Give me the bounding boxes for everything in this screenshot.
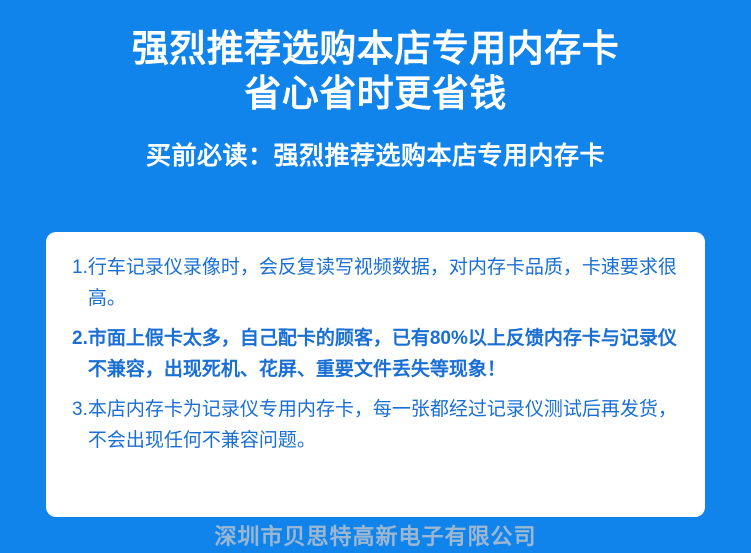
headline-line-2: 省心省时更省钱 bbox=[0, 71, 751, 116]
list-item: 1. 行车记录仪录像时，会反复读写视频数据，对内存卡品质，卡速要求很高。 bbox=[72, 252, 679, 314]
poster-headline: 强烈推荐选购本店专用内存卡 省心省时更省钱 bbox=[0, 0, 751, 116]
list-item-text: 本店内存卡为记录仪专用内存卡，每一张都经过记录仪测试后再发货，不会出现任何不兼容… bbox=[88, 394, 679, 456]
list-item: 2. 市面上假卡太多，自己配卡的顾客，已有80%以上反馈内存卡与记录仪不兼容，出… bbox=[72, 323, 679, 385]
list-item-number: 1. bbox=[72, 252, 88, 283]
promo-poster: 强烈推荐选购本店专用内存卡 省心省时更省钱 买前必读：强烈推荐选购本店专用内存卡… bbox=[0, 0, 751, 553]
list-item-number: 3. bbox=[72, 394, 88, 425]
list-item-number: 2. bbox=[72, 323, 88, 354]
list-item-text: 行车记录仪录像时，会反复读写视频数据，对内存卡品质，卡速要求很高。 bbox=[88, 252, 679, 314]
list-item-text: 市面上假卡太多，自己配卡的顾客，已有80%以上反馈内存卡与记录仪不兼容，出现死机… bbox=[88, 323, 679, 385]
company-watermark: 深圳市贝思特高新电子有限公司 bbox=[0, 519, 751, 551]
list-item: 3. 本店内存卡为记录仪专用内存卡，每一张都经过记录仪测试后再发货，不会出现任何… bbox=[72, 394, 679, 456]
headline-line-1: 强烈推荐选购本店专用内存卡 bbox=[132, 28, 620, 69]
notice-card: 1. 行车记录仪录像时，会反复读写视频数据，对内存卡品质，卡速要求很高。 2. … bbox=[46, 232, 705, 517]
poster-subhead: 买前必读：强烈推荐选购本店专用内存卡 bbox=[0, 140, 751, 172]
